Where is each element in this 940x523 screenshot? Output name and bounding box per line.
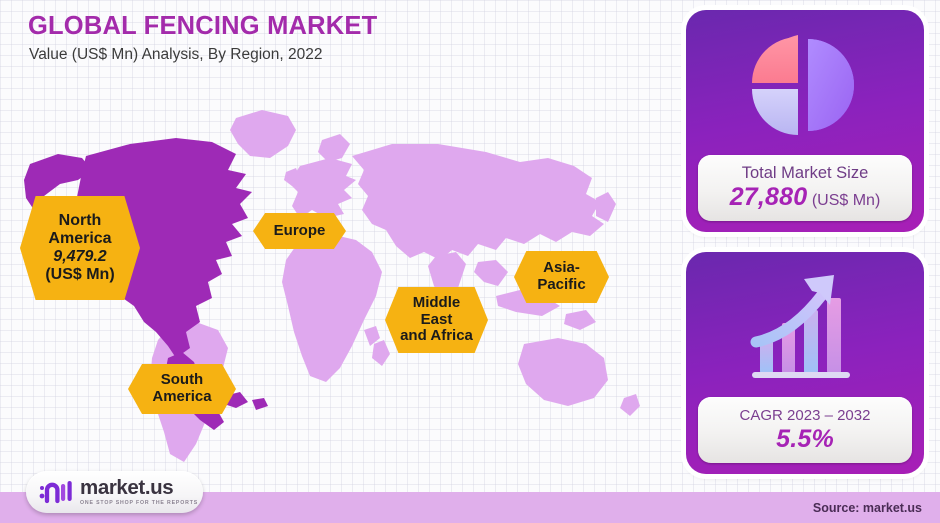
map-label-mea-line2: East xyxy=(400,312,473,329)
source-text: Source: market.us xyxy=(813,501,922,515)
pie-chart-icon xyxy=(686,10,924,160)
total-market-size-value-row: 27,880 (US$ Mn) xyxy=(730,183,881,212)
page-subtitle: Value (US$ Mn) Analysis, By Region, 2022 xyxy=(29,46,377,63)
market-us-logo-text: market.us ONE STOP SHOP FOR THE REPORTS xyxy=(80,478,198,507)
map-label-mea-line1: Middle xyxy=(400,295,473,312)
map-label-mea-line3: and Africa xyxy=(400,328,473,345)
page-title: GLOBAL FENCING MARKET xyxy=(28,12,377,40)
total-market-size-unit: (US$ Mn) xyxy=(812,192,880,209)
cagr-card[interactable]: CAGR 2023 – 2032 5.5% xyxy=(686,252,924,474)
logo-tagline: ONE STOP SHOP FOR THE REPORTS xyxy=(80,501,198,506)
total-market-size-card[interactable]: Total Market Size 27,880 (US$ Mn) xyxy=(686,10,924,232)
market-us-logo[interactable]: market.us ONE STOP SHOP FOR THE REPORTS xyxy=(26,471,203,513)
header: GLOBAL FENCING MARKET Value (US$ Mn) Ana… xyxy=(28,12,377,63)
logo-name: market.us xyxy=(80,478,198,499)
map-label-asia-pacific-line2: Pacific xyxy=(537,277,585,294)
total-market-size-value: 27,880 xyxy=(730,183,808,211)
map-label-north-america[interactable]: North America 9,479.2 (US$ Mn) xyxy=(20,196,140,300)
cagr-plate: CAGR 2023 – 2032 5.5% xyxy=(698,397,912,463)
map-label-europe-line1: Europe xyxy=(274,223,326,240)
cagr-caption: CAGR 2023 – 2032 xyxy=(740,408,871,425)
cagr-value: 5.5% xyxy=(776,425,834,454)
total-market-size-caption: Total Market Size xyxy=(742,164,869,182)
infographic-canvas: GLOBAL FENCING MARKET Value (US$ Mn) Ana… xyxy=(0,0,940,523)
map-label-south-america[interactable]: South America xyxy=(128,364,236,414)
map-label-middle-east-and-africa[interactable]: Middle East and Africa xyxy=(385,287,488,353)
map-label-asia-pacific-line1: Asia- xyxy=(537,260,585,277)
map-label-europe[interactable]: Europe xyxy=(253,213,346,249)
map-label-south-america-line1: South xyxy=(152,372,211,389)
market-us-logo-icon xyxy=(39,479,73,505)
growth-bar-chart-arrow-icon xyxy=(686,252,924,402)
map-label-asia-pacific[interactable]: Asia- Pacific xyxy=(514,251,609,303)
map-label-north-america-value: 9,479.2 xyxy=(45,248,114,266)
total-market-size-plate: Total Market Size 27,880 (US$ Mn) xyxy=(698,155,912,221)
map-label-north-america-line2: America xyxy=(45,230,114,248)
map-label-north-america-line1: North xyxy=(45,212,114,230)
map-label-north-america-unit: (US$ Mn) xyxy=(45,266,114,284)
map-label-south-america-line2: America xyxy=(152,389,211,406)
